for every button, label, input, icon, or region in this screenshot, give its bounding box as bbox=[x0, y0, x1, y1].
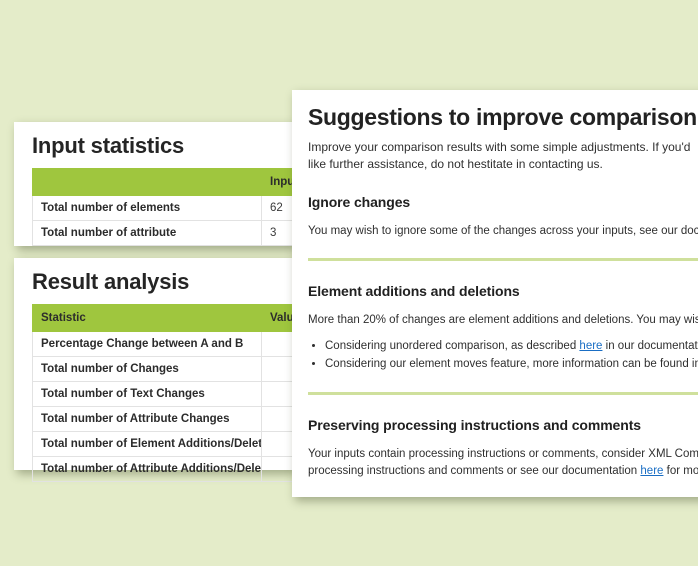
list-item: Considering unordered comparison, as des… bbox=[325, 338, 698, 356]
bullet-text-after: in our documentation. bbox=[602, 340, 698, 352]
section-body: More than 20% of changes are element add… bbox=[308, 312, 698, 329]
input-statistics-card: Input statistics Input A Input B Total n… bbox=[14, 122, 294, 246]
section-body-line-2: processing instructions and comments or … bbox=[308, 463, 698, 480]
section-text-before: You may wish to ignore some of the chang… bbox=[308, 225, 698, 237]
row-label: Total number of Element Additions/Deleti… bbox=[33, 432, 262, 457]
result-analysis-card: Result analysis Statistic Value Percenta… bbox=[14, 258, 294, 470]
input-statistics-title: Input statistics bbox=[14, 122, 294, 168]
section-heading: Ignore changes bbox=[308, 194, 698, 210]
section-body: You may wish to ignore some of the chang… bbox=[308, 223, 698, 240]
bullet-text-before: Considering our element moves feature, m… bbox=[325, 358, 698, 370]
suggestions-panel: Suggestions to improve comparison result… bbox=[292, 90, 698, 497]
row-label: Total number of Attribute Additions/Dele… bbox=[33, 457, 262, 482]
result-analysis-title: Result analysis bbox=[14, 258, 294, 304]
panel-intro-text: Improve your comparison results with som… bbox=[308, 139, 698, 173]
row-label: Total number of Attribute Changes bbox=[33, 407, 262, 432]
column-header-blank bbox=[33, 169, 262, 196]
section-text-after: for more details about preserving them. bbox=[663, 465, 698, 477]
section-preserving-processing-instructions: Preserving processing instructions and c… bbox=[308, 417, 698, 479]
section-element-additions-deletions: Element additions and deletions More tha… bbox=[308, 283, 698, 373]
section-divider bbox=[308, 258, 698, 261]
documentation-link[interactable]: here bbox=[579, 340, 602, 352]
suggestion-bullet-list: Considering unordered comparison, as des… bbox=[308, 338, 698, 374]
row-label: Percentage Change between A and B bbox=[33, 332, 262, 357]
section-text-before: processing instructions and comments or … bbox=[308, 465, 640, 477]
section-body-line-1: Your inputs contain processing instructi… bbox=[308, 446, 698, 463]
page-title: Suggestions to improve comparison result… bbox=[308, 104, 698, 130]
documentation-link[interactable]: here bbox=[640, 465, 663, 477]
column-header-statistic: Statistic bbox=[33, 305, 262, 332]
section-heading: Preserving processing instructions and c… bbox=[308, 417, 698, 433]
section-heading: Element additions and deletions bbox=[308, 283, 698, 299]
row-label: Total number of elements bbox=[33, 196, 262, 221]
section-divider bbox=[308, 392, 698, 395]
row-label: Total number of Changes bbox=[33, 357, 262, 382]
list-item: Considering our element moves feature, m… bbox=[325, 356, 698, 374]
row-label: Total number of attribute bbox=[33, 221, 262, 246]
bullet-text-before: Considering unordered comparison, as des… bbox=[325, 340, 579, 352]
row-label: Total number of Text Changes bbox=[33, 382, 262, 407]
section-ignore-changes: Ignore changes You may wish to ignore so… bbox=[308, 194, 698, 240]
